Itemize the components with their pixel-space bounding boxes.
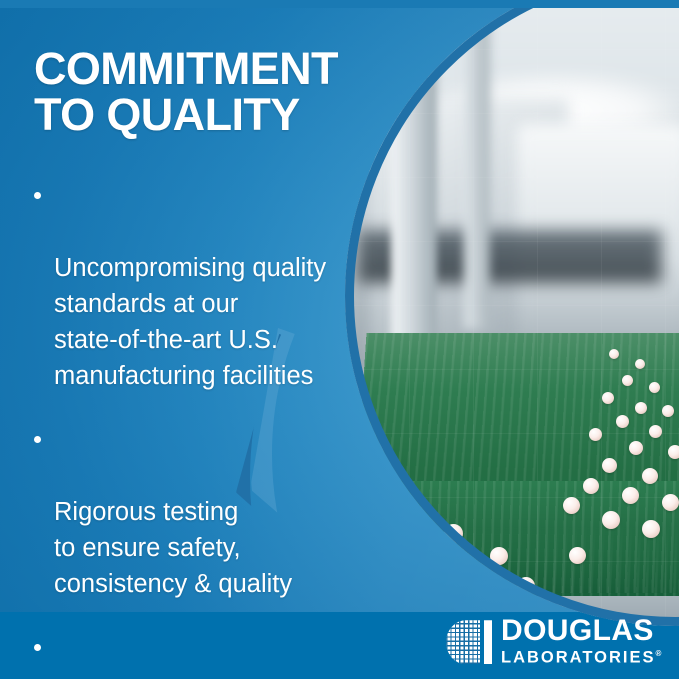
tablets-icon — [629, 441, 643, 455]
benefits-list: Uncompromising quality standards at our … — [30, 178, 360, 679]
list-item: All products are GMO-free — [30, 630, 360, 679]
logo-subtitle-text: LABORATORIES — [501, 649, 655, 667]
tablets-icon — [635, 402, 647, 414]
bullet-dot-icon — [34, 436, 41, 443]
tablets-icon — [642, 468, 658, 484]
tablets-icon — [662, 494, 679, 511]
tablets-icon — [649, 425, 662, 438]
tablets-icon — [602, 392, 614, 404]
logo-brand-name: DOUGLAS — [501, 617, 661, 644]
grid-d-mark-icon — [446, 620, 492, 664]
tablets-icon — [583, 478, 599, 494]
list-item: Uncompromising quality standards at our … — [30, 178, 360, 394]
page-title: COMMITMENT TO QUALITY — [34, 46, 354, 138]
list-item-text: Uncompromising quality standards at our … — [54, 254, 326, 390]
manufacturing-photo — [345, 0, 679, 626]
tablets-icon — [668, 445, 679, 459]
list-item-text: Rigorous testing to ensure safety, consi… — [54, 498, 292, 598]
logo-brand-subtitle: LABORATORIES® — [501, 644, 661, 668]
text-column: COMMITMENT TO QUALITY Uncompromising qua… — [0, 0, 360, 612]
tablets-icon — [490, 547, 508, 565]
photo-scene — [345, 0, 679, 626]
steel-column — [391, 0, 437, 388]
steel-column-secondary — [464, 0, 490, 329]
tablets-icon — [649, 382, 660, 393]
commitment-to-quality-poster: COMMITMENT TO QUALITY Uncompromising qua… — [0, 0, 679, 679]
tablets-icon — [602, 458, 617, 473]
tablets-icon — [662, 405, 674, 417]
tablets-icon — [563, 497, 580, 514]
tablets-icon — [602, 511, 620, 529]
logo-wordmark: DOUGLAS LABORATORIES® — [501, 617, 661, 668]
tablets-icon — [444, 524, 463, 543]
bullet-dot-icon — [34, 192, 41, 199]
tablets-icon — [517, 577, 535, 595]
tablets-icon — [609, 349, 619, 359]
belt-rail-left — [358, 520, 384, 626]
tablets-icon — [616, 415, 629, 428]
bullet-dot-icon — [34, 644, 41, 651]
list-item: Rigorous testing to ensure safety, consi… — [30, 422, 360, 602]
registered-trademark-icon: ® — [655, 649, 661, 658]
brand-logo: DOUGLAS LABORATORIES® — [446, 617, 661, 668]
